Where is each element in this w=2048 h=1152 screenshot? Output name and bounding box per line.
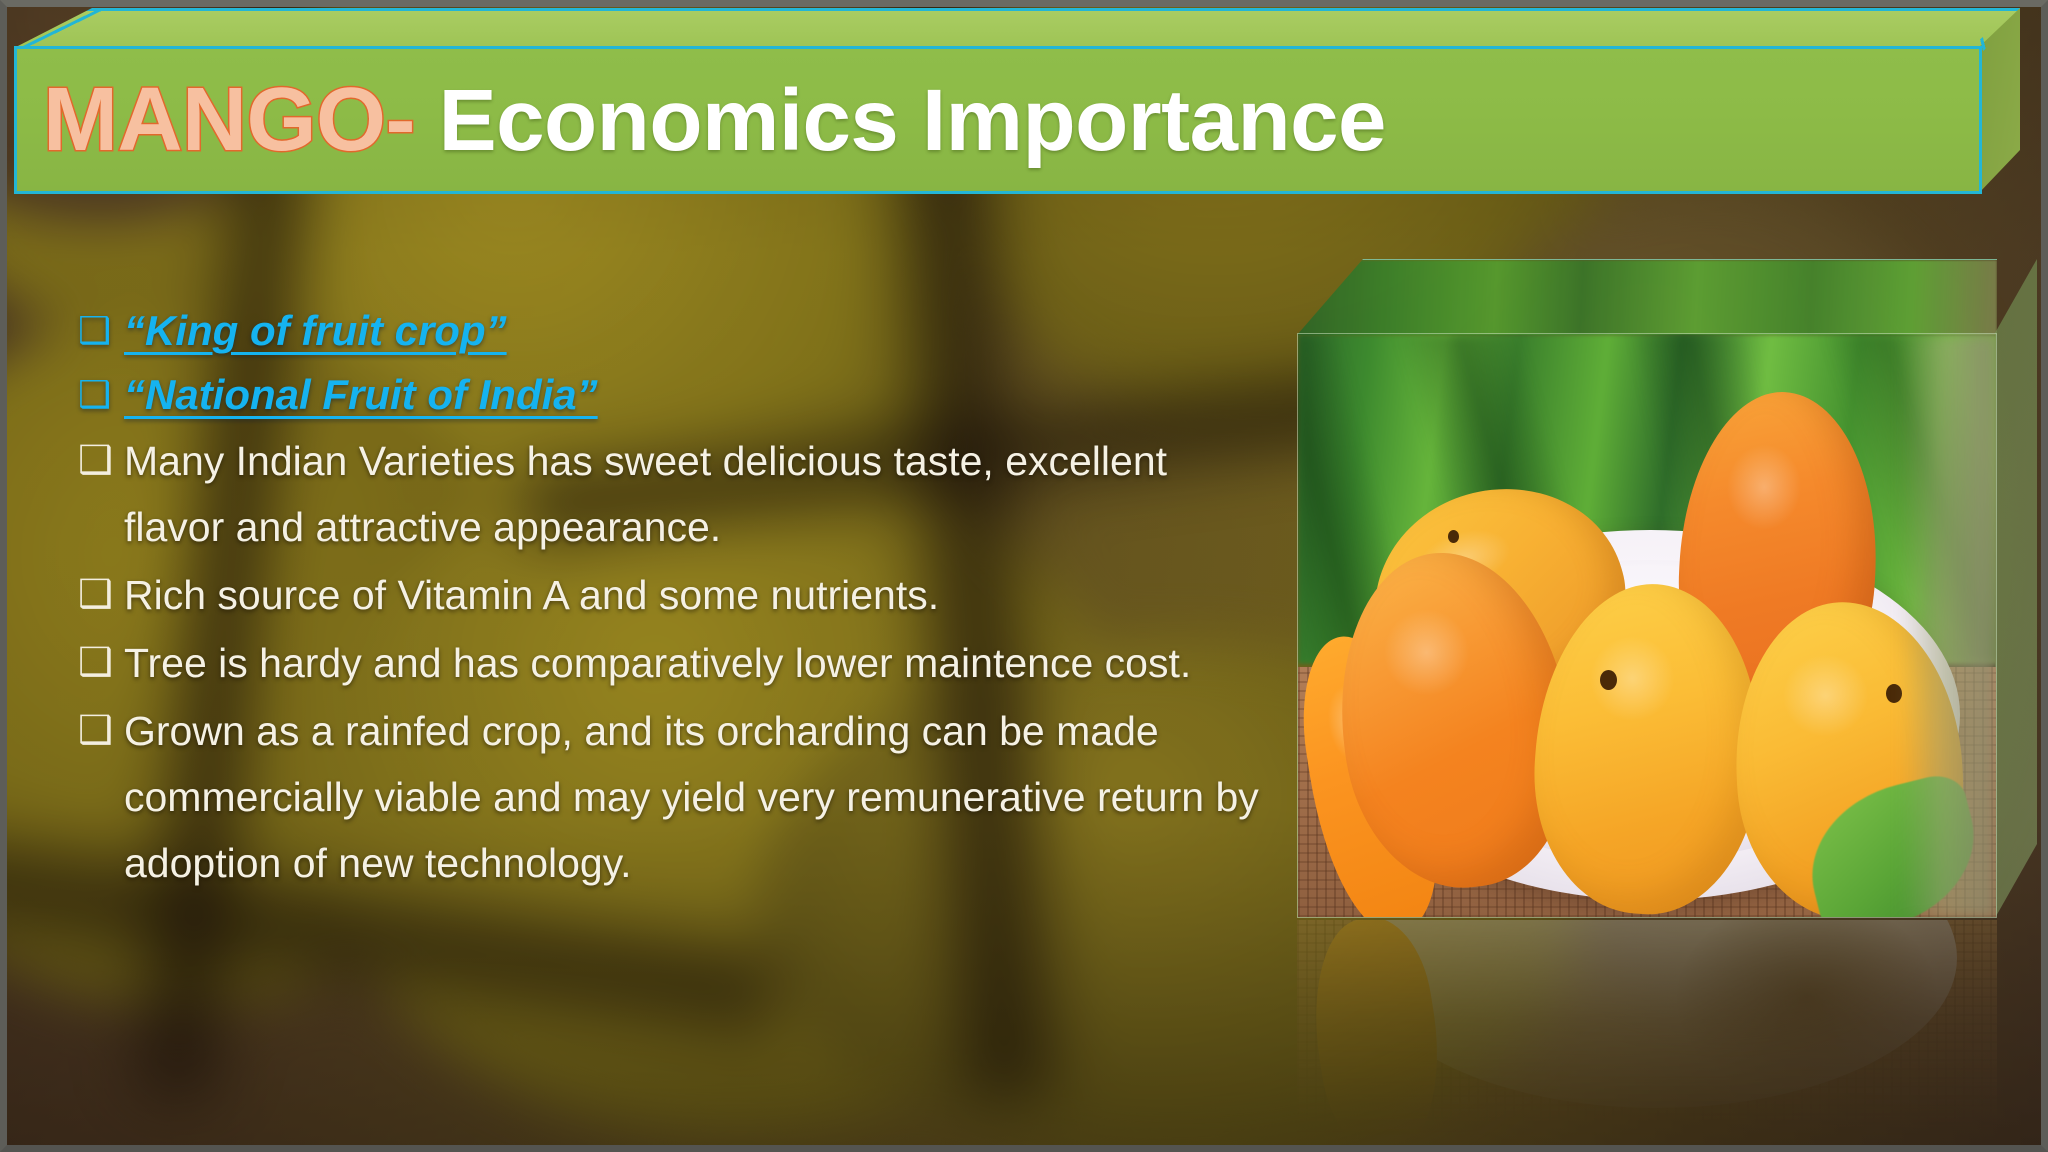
- photo-frame-top-face-fill: [1297, 260, 1997, 335]
- list-item-text: Tree is hardy and has comparatively lowe…: [124, 630, 1263, 696]
- list-item: ❑ “National Fruit of India”: [78, 364, 1263, 426]
- reflection-tint: [1297, 920, 1997, 1138]
- bullet-square-icon: ❑: [78, 364, 124, 426]
- photo-mango-stem-dot: [1448, 530, 1459, 543]
- mango-photo: [1297, 333, 1997, 918]
- list-item: ❑ Tree is hardy and has comparatively lo…: [78, 630, 1263, 696]
- photo-frame-top-face: [1297, 259, 1997, 335]
- mango-photo-frame: [1297, 333, 1997, 918]
- list-item-text[interactable]: “National Fruit of India”: [124, 364, 1263, 426]
- page-title: MANGO- Economics Importance: [43, 75, 1386, 165]
- bullet-list: ❑ “King of fruit crop” ❑ “National Fruit…: [78, 300, 1263, 898]
- title-highlight-word: MANGO-: [43, 70, 415, 170]
- bullet-square-icon: ❑: [78, 698, 124, 764]
- title-banner-top-face: [14, 8, 2020, 48]
- photo-frame-side-face: [1995, 259, 2037, 918]
- list-item-text: Rich source of Vitamin A and some nutrie…: [124, 562, 1263, 628]
- photo-right-blur-band: [1900, 334, 1996, 918]
- title-banner: MANGO- Economics Importance: [14, 8, 2020, 194]
- list-item: ❑ Rich source of Vitamin A and some nutr…: [78, 562, 1263, 628]
- title-banner-front-face: MANGO- Economics Importance: [14, 46, 1982, 194]
- list-item: ❑ Grown as a rainfed crop, and its orcha…: [78, 698, 1263, 896]
- list-item-text: Grown as a rainfed crop, and its orchard…: [124, 698, 1263, 896]
- slide: MANGO- Economics Importance ❑ “King of f…: [0, 0, 2048, 1152]
- bullet-square-icon: ❑: [78, 562, 124, 628]
- bullet-square-icon: ❑: [78, 428, 124, 494]
- list-item-text: Many Indian Varieties has sweet deliciou…: [124, 428, 1263, 560]
- bullet-square-icon: ❑: [78, 300, 124, 362]
- title-remainder: Economics Importance: [415, 72, 1386, 169]
- photo-mango-stem-dot: [1600, 670, 1617, 690]
- mango-photo-reflection: [1297, 920, 1997, 1138]
- list-item-text[interactable]: “King of fruit crop”: [124, 300, 1263, 362]
- list-item: ❑ Many Indian Varieties has sweet delici…: [78, 428, 1263, 560]
- list-item: ❑ “King of fruit crop”: [78, 300, 1263, 362]
- bullet-square-icon: ❑: [78, 630, 124, 696]
